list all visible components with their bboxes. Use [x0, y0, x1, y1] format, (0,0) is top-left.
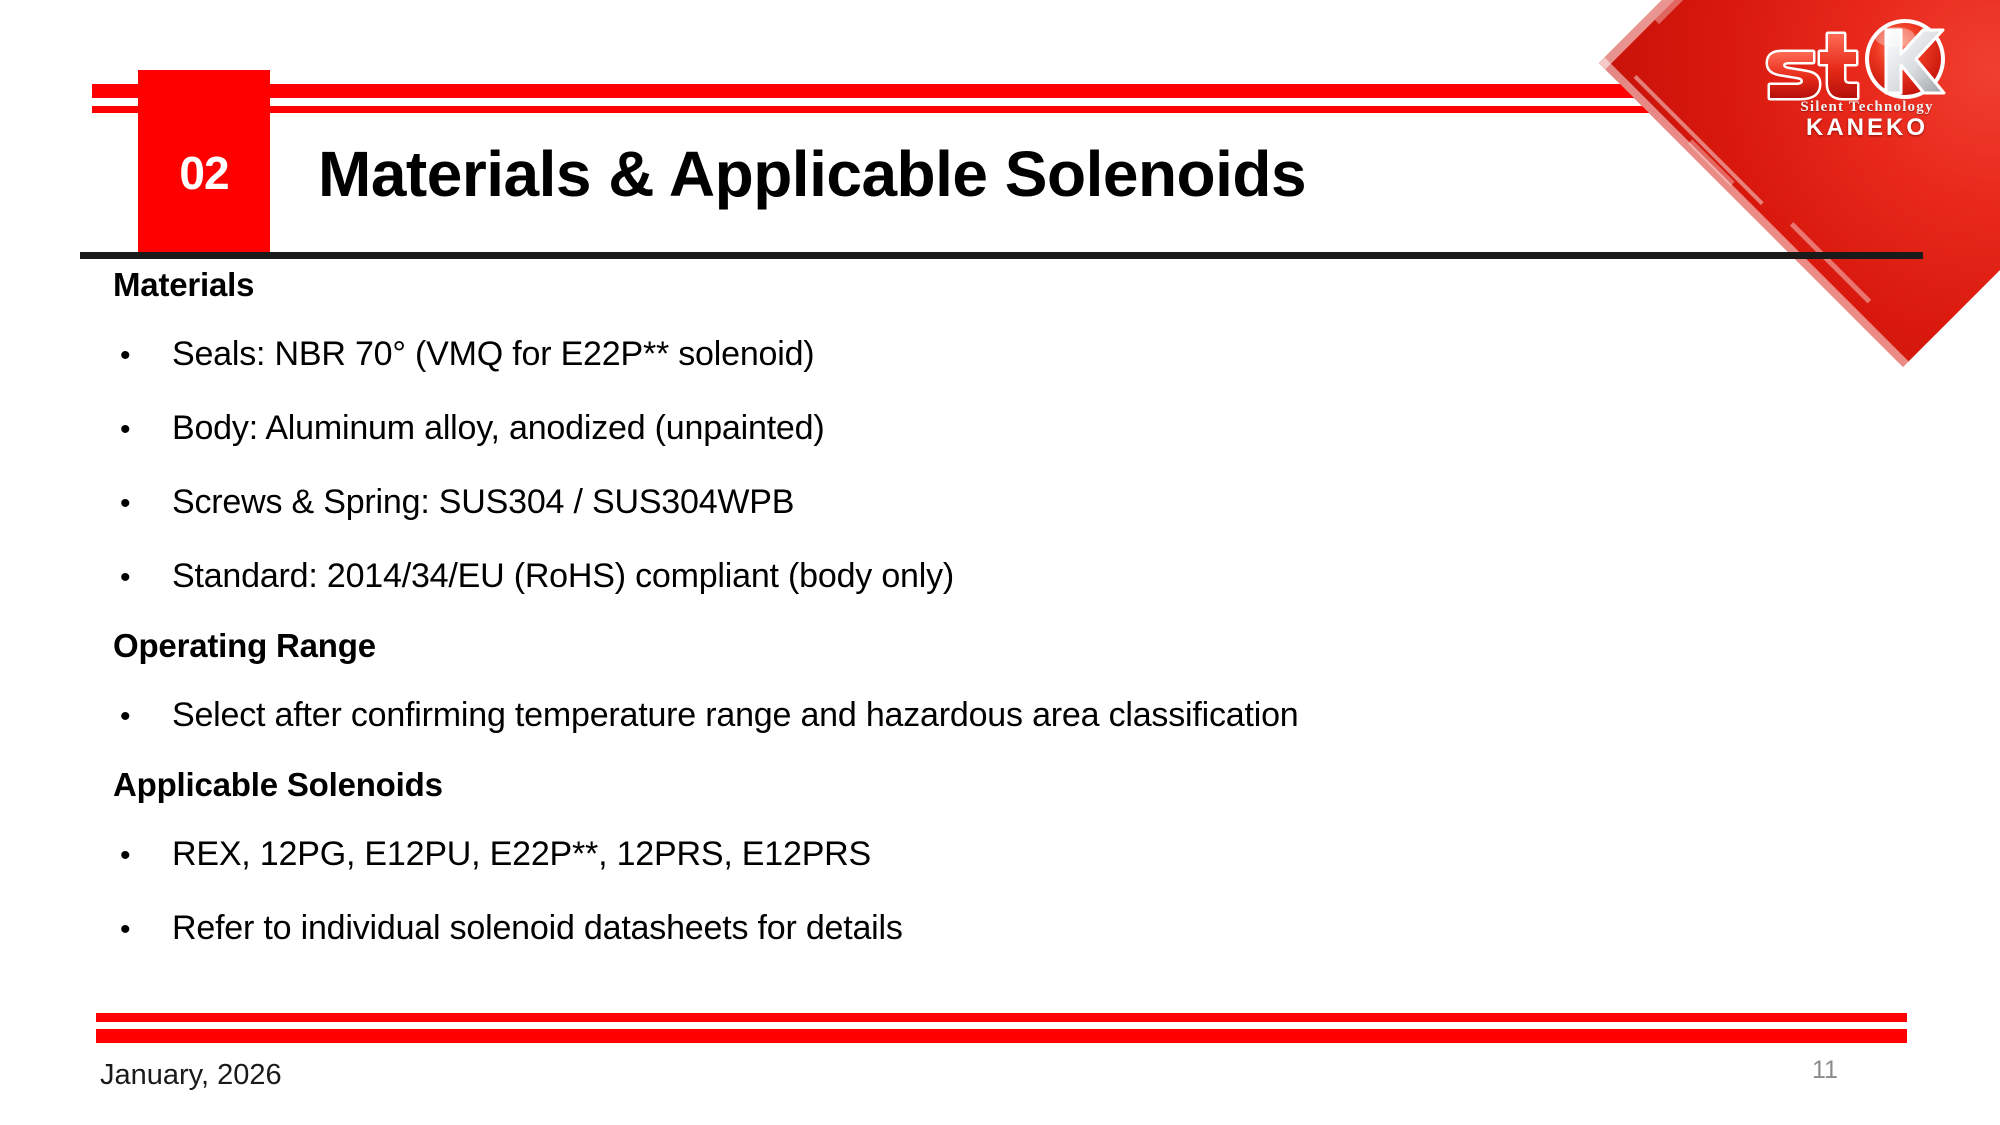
list-item-text: Seals: NBR 70° (VMQ for E22P** solenoid)	[172, 337, 814, 371]
content-section: Applicable Solenoids • REX, 12PG, E12PU,…	[110, 768, 1810, 945]
stk-logo-icon	[1762, 18, 1972, 104]
bullet-icon: •	[110, 415, 172, 445]
footer-rule-thin	[96, 1013, 1907, 1022]
section-number: 02	[138, 150, 270, 196]
list-item-text: Standard: 2014/34/EU (RoHS) compliant (b…	[172, 559, 954, 593]
page-title: Materials & Applicable Solenoids	[318, 142, 1306, 206]
bullet-icon: •	[110, 702, 172, 732]
bullet-icon: •	[110, 915, 172, 945]
section-heading: Materials	[113, 268, 1810, 301]
footer-rule-thick	[96, 1029, 1907, 1043]
page-number: 11	[1812, 1058, 1838, 1083]
list-item-text: REX, 12PG, E12PU, E22P**, 12PRS, E12PRS	[172, 837, 871, 871]
list-item-text: Select after confirming temperature rang…	[172, 698, 1299, 732]
section-heading: Operating Range	[113, 629, 1810, 662]
list-item: • Body: Aluminum alloy, anodized (unpain…	[110, 411, 1810, 445]
content-section: Operating Range • Select after confirmin…	[110, 629, 1810, 732]
content-section: Materials • Seals: NBR 70° (VMQ for E22P…	[110, 268, 1810, 593]
bullet-icon: •	[110, 841, 172, 871]
brush-stroke	[1688, 139, 1735, 186]
bullet-icon: •	[110, 489, 172, 519]
logo-company-name: KANEKO	[1762, 116, 1972, 140]
list-item-text: Refer to individual solenoid datasheets …	[172, 911, 903, 945]
header-rule-bottom	[92, 106, 1777, 113]
logo-tagline: Silent Technology	[1762, 100, 1972, 115]
section-number-badge: 02	[138, 70, 270, 255]
slide-canvas: Silent Technology KANEKO 02 Materials & …	[0, 0, 2000, 1125]
company-logo: Silent Technology KANEKO	[1762, 18, 1972, 138]
list-item: • Refer to individual solenoid datasheet…	[110, 911, 1810, 945]
list-item: • Seals: NBR 70° (VMQ for E22P** solenoi…	[110, 337, 1810, 371]
bullet-icon: •	[110, 563, 172, 593]
bullet-icon: •	[110, 341, 172, 371]
slide-body: Materials • Seals: NBR 70° (VMQ for E22P…	[110, 268, 1810, 945]
brush-stroke	[1634, 75, 1764, 205]
header-rule-top	[92, 84, 1777, 98]
footer-date: January, 2026	[100, 1061, 282, 1090]
list-item: • Screws & Spring: SUS304 / SUS304WPB	[110, 485, 1810, 519]
list-item-text: Screws & Spring: SUS304 / SUS304WPB	[172, 485, 794, 519]
section-heading: Applicable Solenoids	[113, 768, 1810, 801]
list-item: • Standard: 2014/34/EU (RoHS) compliant …	[110, 559, 1810, 593]
list-item: • REX, 12PG, E12PU, E22P**, 12PRS, E12PR…	[110, 837, 1810, 871]
list-item-text: Body: Aluminum alloy, anodized (unpainte…	[172, 411, 824, 445]
list-item: • Select after confirming temperature ra…	[110, 698, 1810, 732]
header-divider	[80, 252, 1923, 259]
